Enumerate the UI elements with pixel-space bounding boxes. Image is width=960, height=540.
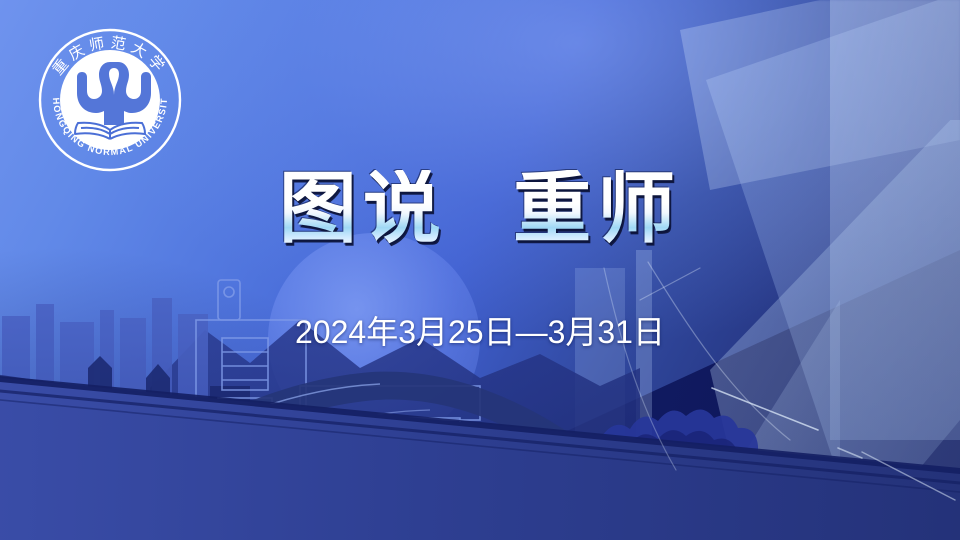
slide-canvas: 重庆师范大学 CHONGQING NORMAL UNIVERSITY 图说 重师… (0, 0, 960, 540)
university-emblem-icon: 重庆师范大学 CHONGQING NORMAL UNIVERSITY (36, 26, 184, 174)
date-range-label: 2024年3月25日—3月31日 (0, 307, 960, 353)
page-title: 图说 重师 (0, 170, 960, 248)
